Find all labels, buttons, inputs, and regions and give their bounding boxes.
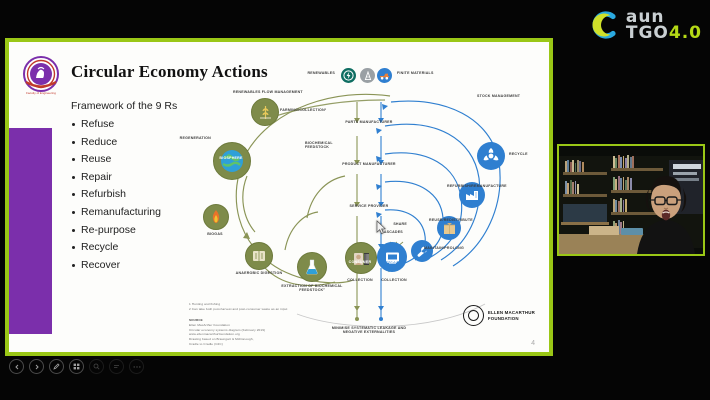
label-recycle: RECYCLE [509, 152, 545, 156]
label-parts-manufacturer: PARTS MANUFACTURER [325, 120, 413, 124]
presenter-video-feed [559, 146, 703, 254]
slide-canvas: Faculty of Engineering Circular Economy … [9, 42, 549, 352]
emf-rings-icon [463, 305, 484, 326]
emf-line-1: ELLEN MACARTHUR [488, 310, 535, 316]
slide-accent-band [9, 128, 52, 334]
zoom-slide-button[interactable] [89, 359, 104, 374]
label-extraction-biochemical-feedstock: EXTRACTION OF BIOCHEMICAL FEEDSTOCK² [281, 284, 343, 293]
list-item: Refuse [81, 118, 191, 130]
label-cascades: CASCADES [381, 230, 421, 234]
farming-collection-icon [251, 98, 279, 126]
diagram-flow-lines [185, 56, 545, 342]
presenter-toolbar[interactable] [9, 359, 144, 374]
slide-grid-button[interactable] [69, 359, 84, 374]
chevron-right-icon [34, 364, 40, 370]
list-item: Recover [81, 259, 191, 271]
auntgo-wordmark: aun TGO4.0 [626, 9, 702, 42]
label-refurbish-remanufacture: REFURBISH/REMANUFACTURE [447, 184, 509, 188]
brand-line-2: TGO [626, 23, 669, 43]
grid-icon [73, 363, 80, 370]
oil-rig-icon [360, 68, 375, 83]
nine-rs-list: Refuse Reduce Reuse Repair Refurbish Rem… [71, 118, 191, 271]
subtitles-button[interactable] [109, 359, 124, 374]
label-regeneration: REGENERATION [169, 136, 211, 140]
framework-heading: Framework of the 9 Rs [71, 100, 191, 112]
list-item: Recycle [81, 241, 191, 253]
circular-economy-butterfly-diagram: RENEWABLES FINITE MATERIALS RENEWABLES F… [185, 56, 545, 342]
previous-slide-button[interactable] [9, 359, 24, 374]
subtitles-icon [113, 363, 120, 370]
label-renewables: RENEWABLES [255, 71, 335, 75]
more-options-button[interactable] [129, 359, 144, 374]
ellen-macarthur-foundation-logo: ELLEN MACARTHUR FOUNDATION [463, 305, 535, 326]
biosphere-icon [213, 142, 251, 180]
meeting-screen-share-view: aun TGO4.0 Faculty of Engineering Circul… [0, 0, 710, 400]
label-consumer: CONSUMER [345, 260, 375, 264]
share-wrench-icon [411, 240, 433, 262]
consumer-icon [345, 242, 377, 274]
list-item: Repair [81, 171, 191, 183]
ellipsis-icon [133, 365, 141, 369]
list-item: Refurbish [81, 188, 191, 200]
label-service-provider: SERVICE PROVIDER [327, 204, 411, 208]
biogas-flame-icon [203, 204, 229, 230]
auntgo-c-mark-icon [586, 8, 620, 42]
magnifier-icon [93, 363, 100, 370]
next-slide-button[interactable] [29, 359, 44, 374]
refurbish-remanufacture-icon [477, 142, 505, 170]
brand-line-2-accent: 4.0 [669, 23, 702, 43]
pen-tool-button[interactable] [49, 359, 64, 374]
list-item: Re-purpose [81, 224, 191, 236]
svg-text:Faculty of Engineering: Faculty of Engineering [26, 91, 56, 95]
mining-truck-icon [377, 68, 392, 83]
renewables-icon [341, 68, 356, 83]
shared-slide-frame[interactable]: Faculty of Engineering Circular Economy … [5, 38, 553, 356]
footnote-2: 2 Can take both post-harvest and post-co… [189, 307, 339, 312]
label-product-manufacturer: PRODUCT MANUFACTURER [321, 162, 417, 166]
label-biosphere: BIOSPHERE [213, 156, 249, 160]
label-stock-management: STOCK MANAGEMENT [477, 94, 547, 98]
label-farming-collection: FARMING/COLLECTION¹ [280, 108, 344, 112]
university-crest-icon: Faculty of Engineering [17, 52, 65, 100]
label-collection-tech: COLLECTION [367, 278, 421, 282]
presenter-video-tile[interactable] [557, 144, 705, 256]
source-line: Cradle to Cradle (C2C) [189, 342, 339, 347]
nine-rs-block: Framework of the 9 Rs Refuse Reduce Reus… [71, 100, 191, 276]
label-biogas: BIOGAS [193, 232, 237, 236]
biochemical-flask-icon [297, 252, 327, 282]
user-icon [377, 242, 407, 272]
label-finite-materials: FINITE MATERIALS [397, 71, 477, 75]
label-anaerobic-digestion: ANAEROBIC DIGESTION [233, 271, 285, 275]
pen-icon [53, 363, 60, 370]
presenter-figure [635, 166, 697, 254]
label-maintain-prolong: MAINTAIN/PROLONG [411, 246, 477, 250]
anaerobic-digestion-icon [245, 242, 273, 270]
label-reuse-redistribute: REUSE/REDISTRIBUTE [429, 218, 491, 222]
label-user: USER [377, 260, 407, 264]
list-item: Reuse [81, 153, 191, 165]
auntgo-branding: aun TGO4.0 [586, 8, 702, 42]
mouse-pointer-icon [376, 220, 387, 235]
chevron-left-icon [14, 364, 20, 370]
slide-number: 4 [531, 340, 535, 347]
emf-line-2: FOUNDATION [488, 316, 535, 322]
list-item: Remanufacturing [81, 206, 191, 218]
label-biochemical-feedstock: BIOCHEMICAL FEEDSTOCK [305, 141, 355, 150]
label-renewables-flow-management: RENEWABLES FLOW MANAGEMENT [233, 90, 343, 94]
